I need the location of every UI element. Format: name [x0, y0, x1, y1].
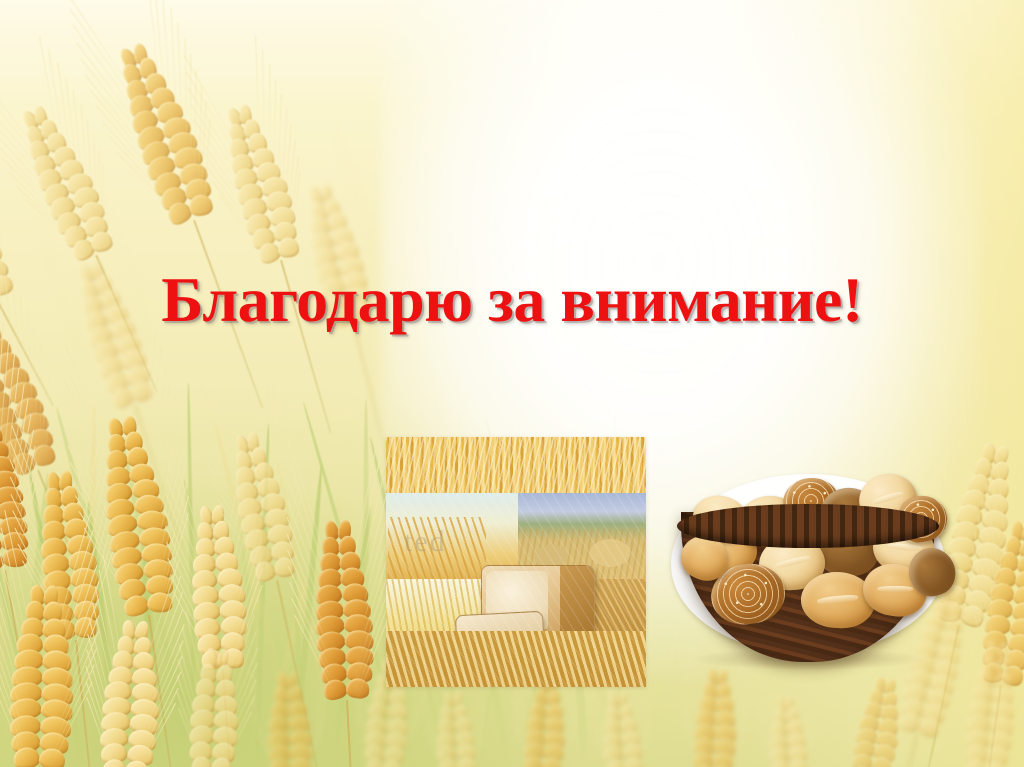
collage-sheen-overlay — [386, 437, 646, 687]
page-title: Благодарю за внимание! — [0, 268, 1024, 332]
presentation-slide: Благодарю за внимание! ted — [0, 0, 1024, 767]
bread-roll-score — [871, 490, 904, 506]
bread-roll-score — [887, 543, 922, 552]
wicker-basket-rim — [677, 504, 939, 548]
bread-roll-score — [773, 554, 810, 569]
wheat-and-bread-collage-image[interactable]: ted — [386, 437, 646, 687]
bread-roll-score — [877, 586, 913, 592]
bread-basket-image[interactable] — [663, 452, 953, 682]
bread-roll-score — [817, 593, 859, 604]
